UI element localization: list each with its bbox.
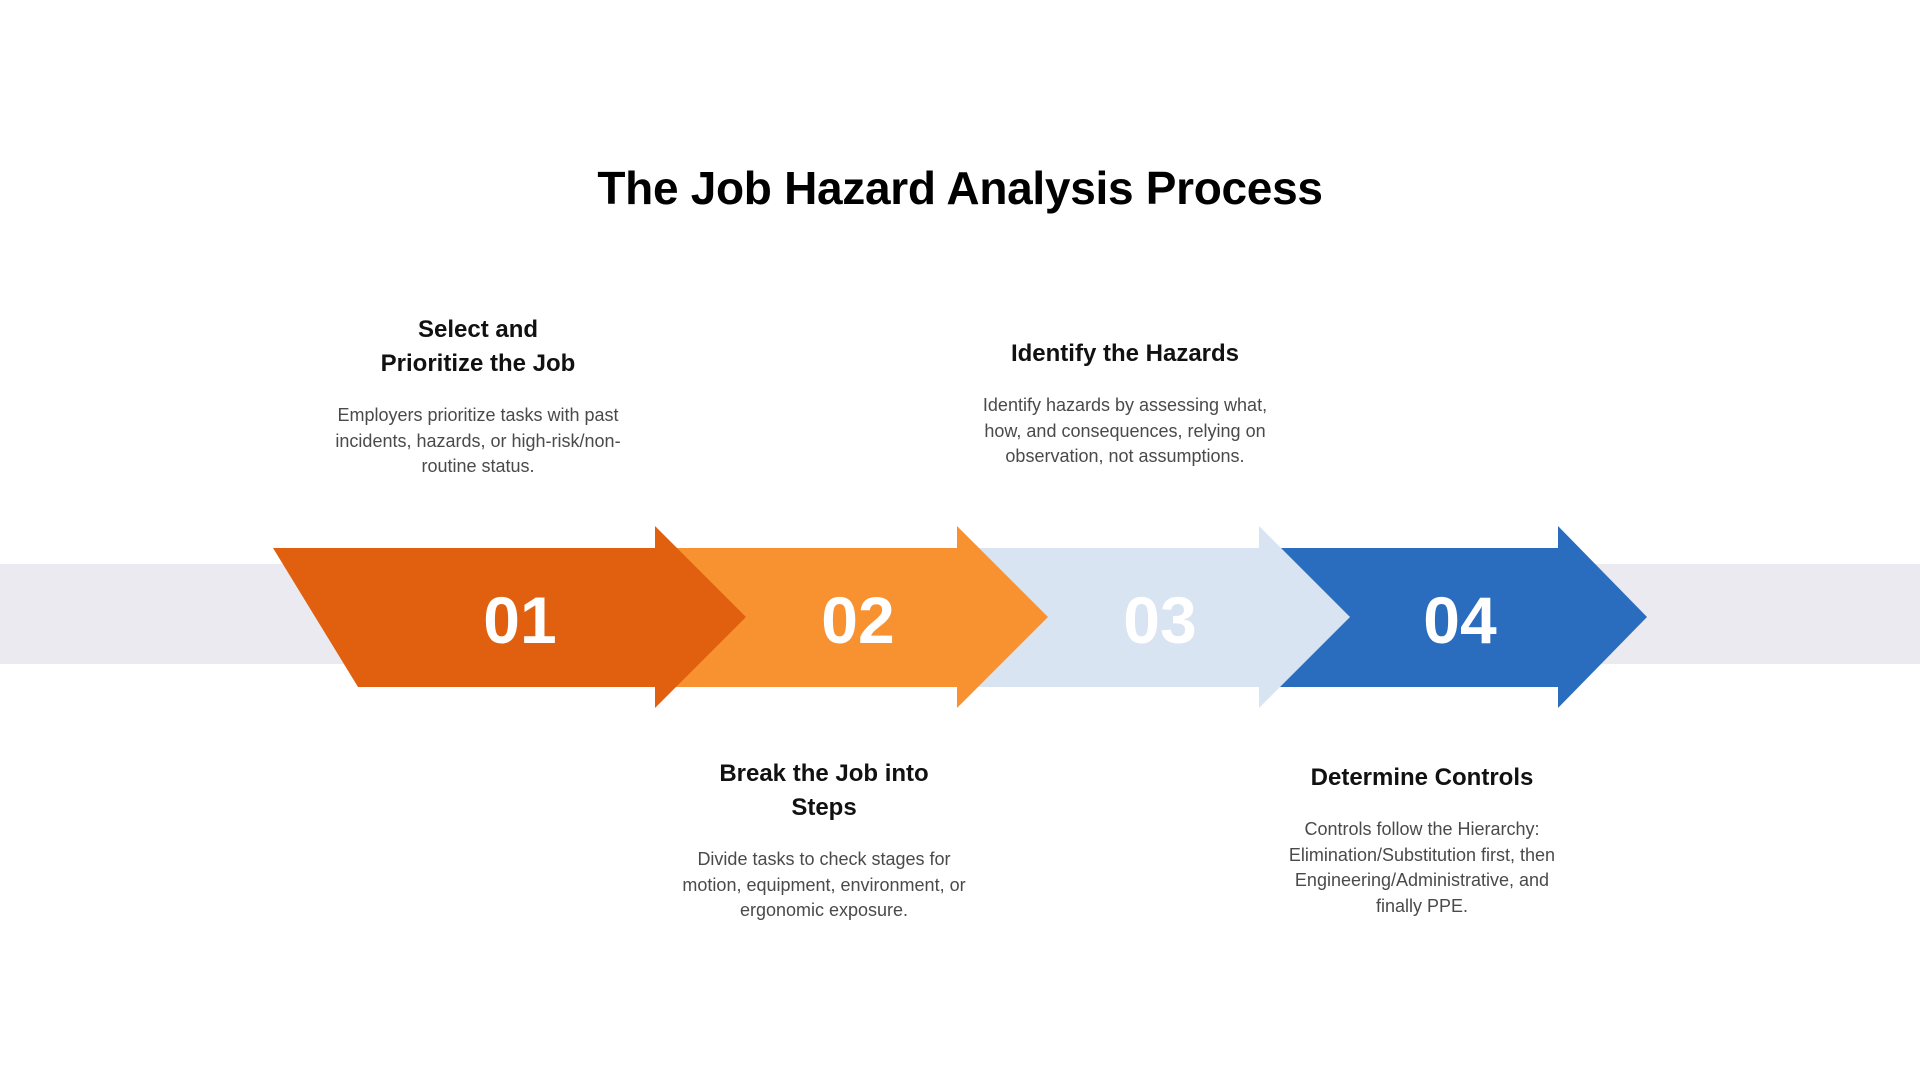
step-heading-02-line1: Break the Job into: [719, 760, 928, 787]
step-body-03: Identify hazards by assessing what, how,…: [975, 393, 1275, 470]
step-body-01: Employers prioritize tasks with past inc…: [328, 403, 628, 480]
background-band: [0, 564, 1920, 664]
page-title: The Job Hazard Analysis Process: [0, 163, 1920, 215]
step-text-01: Select and Prioritize the Job Employers …: [328, 313, 628, 480]
step-text-02: Break the Job into Steps Divide tasks to…: [674, 757, 974, 924]
step-heading-01-line2: Prioritize the Job: [381, 350, 576, 377]
step-heading-02: Break the Job into Steps: [674, 757, 974, 825]
step-heading-04: Determine Controls: [1272, 761, 1572, 795]
step-body-02: Divide tasks to check stages for motion,…: [674, 847, 974, 924]
step-heading-03: Identify the Hazards: [975, 337, 1275, 371]
step-heading-01: Select and Prioritize the Job: [328, 313, 628, 381]
step-body-04: Controls follow the Hierarchy: Eliminati…: [1272, 817, 1572, 919]
step-text-04: Determine Controls Controls follow the H…: [1272, 761, 1572, 919]
step-text-03: Identify the Hazards Identify hazards by…: [975, 337, 1275, 470]
step-heading-02-line2: Steps: [791, 794, 856, 821]
step-heading-01-line1: Select and: [418, 316, 538, 343]
